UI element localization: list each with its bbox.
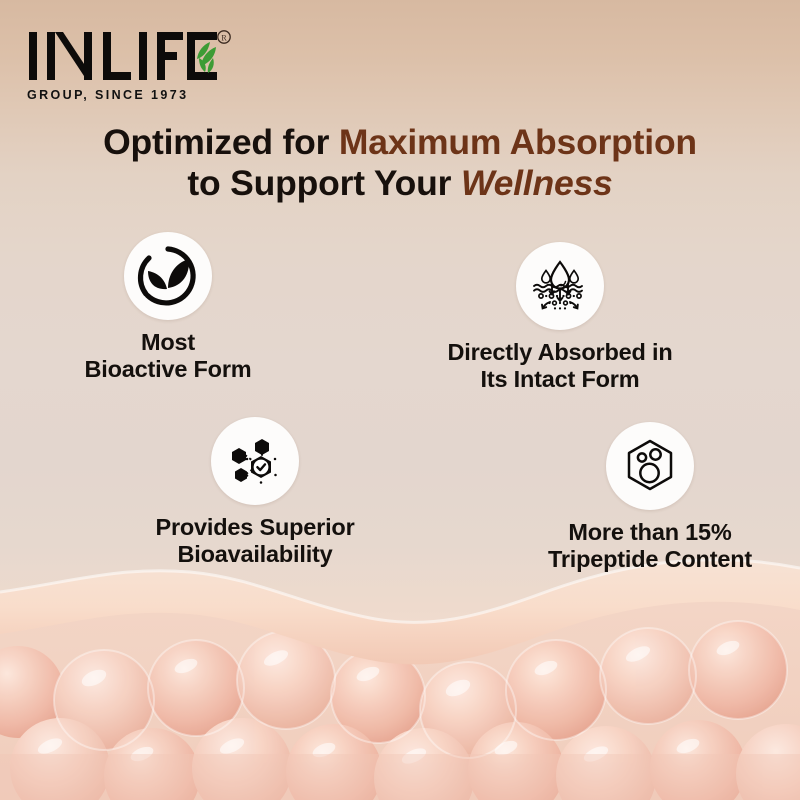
registered-trademark-icon: R: [218, 31, 230, 43]
feature-icon-badge: [606, 422, 694, 510]
promo-banner: R GROUP, SINCE 1973 Optimized for Maximu…: [0, 0, 800, 800]
leaf-icon: [197, 42, 216, 73]
feature-item-tripeptide-content: More than 15% Tripeptide Content: [505, 422, 795, 573]
headline-line2-accent: Wellness: [461, 163, 613, 203]
inlife-wordmark-icon: R: [27, 28, 232, 84]
feature-item-direct-absorption: Directly Absorbed in Its Intact Form: [400, 242, 720, 393]
headline-line-2: to Support Your Wellness: [22, 163, 778, 204]
feature-icon-badge: [516, 242, 604, 330]
headline-line1-accent: Maximum Absorption: [339, 122, 697, 162]
feature-label: Directly Absorbed in Its Intact Form: [400, 339, 720, 393]
feature-item-bioactive-form: Most Bioactive Form: [28, 232, 308, 383]
brand-tagline: GROUP, SINCE 1973: [27, 88, 237, 102]
svg-text:R: R: [221, 33, 227, 42]
brand-logo: R GROUP, SINCE 1973: [27, 28, 237, 102]
feature-label-line2: Bioactive Form: [85, 356, 252, 382]
feature-label-line1: Provides Superior: [155, 514, 354, 540]
feature-grid: Most Bioactive Form: [0, 232, 800, 582]
feature-icon-badge: [211, 417, 299, 505]
feature-label-line2: Tripeptide Content: [548, 546, 752, 572]
feature-icon-badge: [124, 232, 212, 320]
molecule-check-icon: [224, 430, 286, 492]
feature-label-line2: Bioavailability: [177, 541, 332, 567]
feature-label-line1: Most: [141, 329, 195, 355]
feature-label-line2: Its Intact Form: [481, 366, 640, 392]
feature-label: Provides Superior Bioavailability: [110, 514, 400, 568]
headline-line1-plain: Optimized for: [103, 122, 339, 162]
page-title: Optimized for Maximum Absorption to Supp…: [0, 122, 800, 204]
feature-label: More than 15% Tripeptide Content: [505, 519, 795, 573]
headline-line-1: Optimized for Maximum Absorption: [22, 122, 778, 163]
feature-label-line1: Directly Absorbed in: [448, 339, 673, 365]
feature-label-line1: More than 15%: [568, 519, 731, 545]
tripeptide-hexagon-icon: [619, 435, 681, 497]
leaf-circle-icon: [137, 245, 199, 307]
water-absorption-icon: [529, 255, 591, 317]
feature-label: Most Bioactive Form: [28, 329, 308, 383]
feature-item-bioavailability: Provides Superior Bioavailability: [110, 417, 400, 568]
headline-line2-plain: to Support Your: [187, 163, 461, 203]
